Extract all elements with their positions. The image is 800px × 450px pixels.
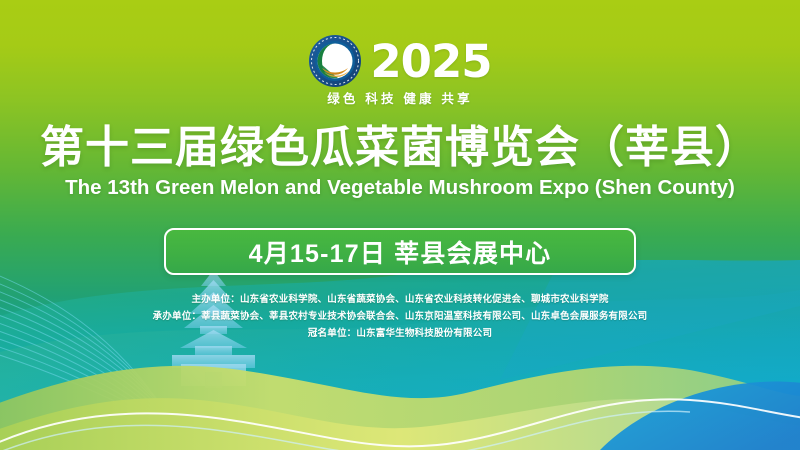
page-subtitle-english: The 13th Green Melon and Vegetable Mushr… xyxy=(0,176,800,200)
organizer-line-titlesponsor: 冠名单位：山东富华生物科技股份有限公司 xyxy=(0,325,800,342)
green-leaf-emblem-icon xyxy=(308,34,362,88)
date-venue-text: 4月15-17日 莘县会展中心 xyxy=(249,234,552,270)
logo-row: 2025 xyxy=(0,34,800,88)
organizer-line-host: 主办单位：山东省农业科学院、山东省蔬菜协会、山东省农业科技转化促进会、聊城市农业… xyxy=(0,291,800,308)
year-label: 2025 xyxy=(370,39,491,84)
rolling-hills-wave-decoration xyxy=(0,260,800,450)
organizer-list: 主办单位：山东省农业科学院、山东省蔬菜协会、山东省农业科技转化促进会、聊城市农业… xyxy=(0,291,800,342)
page-title: 第十三届绿色瓜菜菌博览会（莘县） xyxy=(0,122,800,174)
date-venue-banner: 4月15-17日 莘县会展中心 xyxy=(164,228,636,275)
expo-poster: 2025 绿色 科技 健康 共享 第十三届绿色瓜菜菌博览会（莘县） The 13… xyxy=(0,0,800,450)
organizer-line-coorganizer: 承办单位：莘县蔬菜协会、莘县农村专业技术协会联合会、山东京阳温室科技有限公司、山… xyxy=(0,308,800,325)
slogan-text: 绿色 科技 健康 共享 xyxy=(0,88,800,107)
